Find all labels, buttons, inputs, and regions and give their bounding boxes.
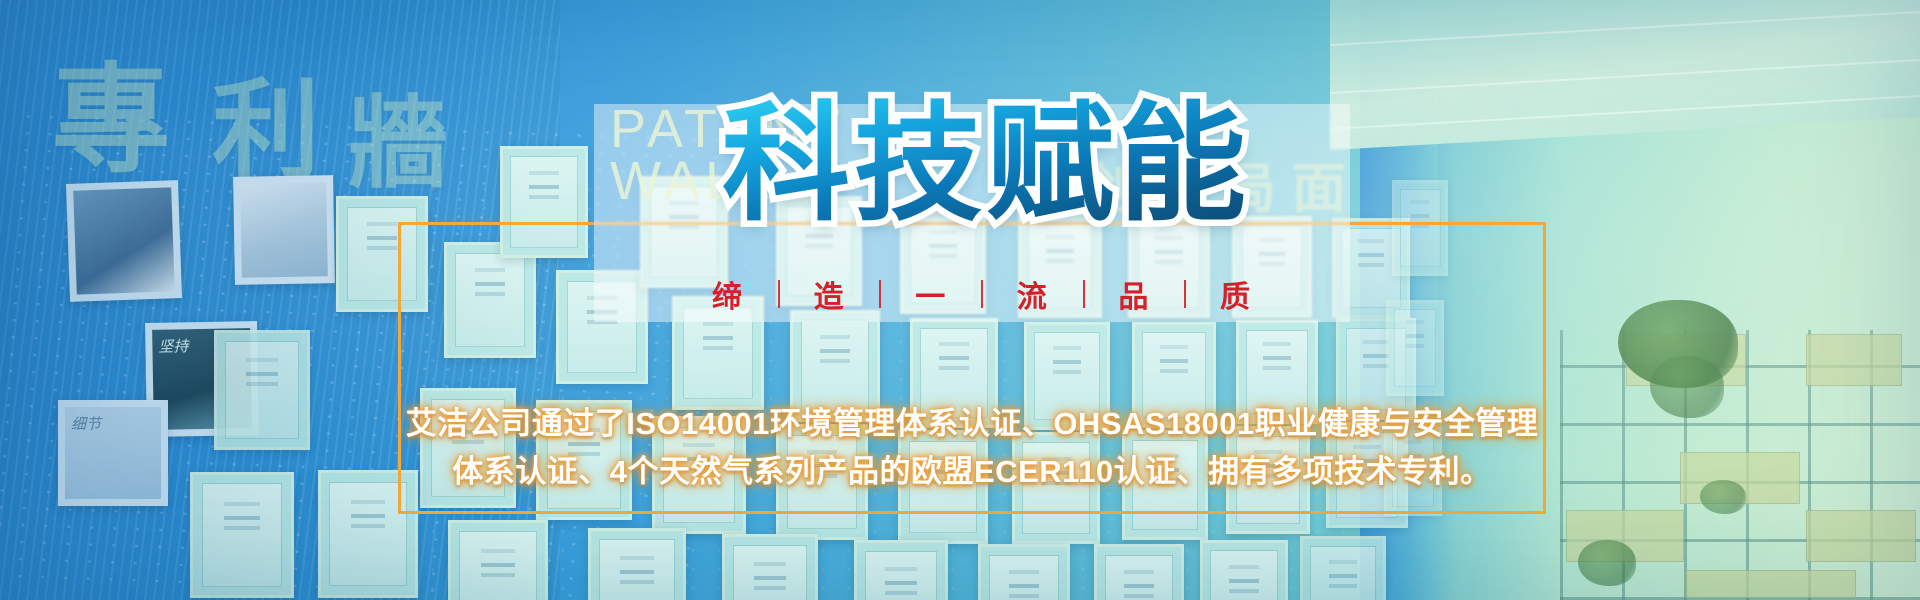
main-title-fill: 科技赋能 xyxy=(722,96,1250,234)
certificate-frame xyxy=(854,540,948,600)
wall-photo-1 xyxy=(66,180,182,302)
certificate-frame xyxy=(1094,544,1184,600)
slogan-word-6: 质 xyxy=(1220,272,1252,316)
wall-glyph-zhuan: 專 xyxy=(52,24,170,195)
certificate-frame xyxy=(1300,536,1386,600)
slogan-word-1: 缔 xyxy=(712,272,744,316)
slogan-word-4: 流 xyxy=(1017,272,1049,316)
description-paragraph: 艾洁公司通过了ISO14001环境管理体系认证、OHSAS18001职业健康与安… xyxy=(398,400,1546,496)
description-line-1: 艾洁公司通过了ISO14001环境管理体系认证、OHSAS18001职业健康与安… xyxy=(398,400,1546,448)
slogan-separator xyxy=(981,280,983,308)
wall-photo-2 xyxy=(233,175,335,285)
wall-photo-detail-label: 细节 xyxy=(71,416,101,433)
slogan-word-5: 品 xyxy=(1118,272,1150,316)
certificate-frame xyxy=(722,534,818,600)
slogan-row: 缔 造 一 流 品 质 xyxy=(712,272,1252,316)
slogan-separator xyxy=(778,280,780,308)
slogan-separator xyxy=(1083,280,1085,308)
office-plant-trail xyxy=(1650,356,1724,418)
certificate-frame xyxy=(1200,540,1288,600)
slogan-word-2: 造 xyxy=(814,272,846,316)
office-plant-small xyxy=(1700,480,1746,514)
wall-glyph-qiang: 牆 xyxy=(348,62,448,207)
patent-wall-banner: 專 利 牆 开创新局面 坚持 细节 xyxy=(0,0,1920,600)
certificate-frame xyxy=(588,528,686,600)
description-line-2: 体系认证、4个天然气系列产品的欧盟ECER110认证、拥有多项技术专利。 xyxy=(398,448,1546,496)
slogan-word-3: 一 xyxy=(915,272,947,316)
office-plant-bottom xyxy=(1578,540,1636,586)
certificate-frame xyxy=(978,544,1070,600)
certificate-frame xyxy=(214,330,310,450)
slogan-separator xyxy=(1184,280,1186,308)
wall-photo-persist-label: 坚持 xyxy=(158,338,188,356)
certificate-frame xyxy=(448,520,548,600)
certificate-frame xyxy=(190,472,294,598)
wall-photo-detail: 细节 xyxy=(58,400,168,506)
slogan-separator xyxy=(879,280,881,308)
